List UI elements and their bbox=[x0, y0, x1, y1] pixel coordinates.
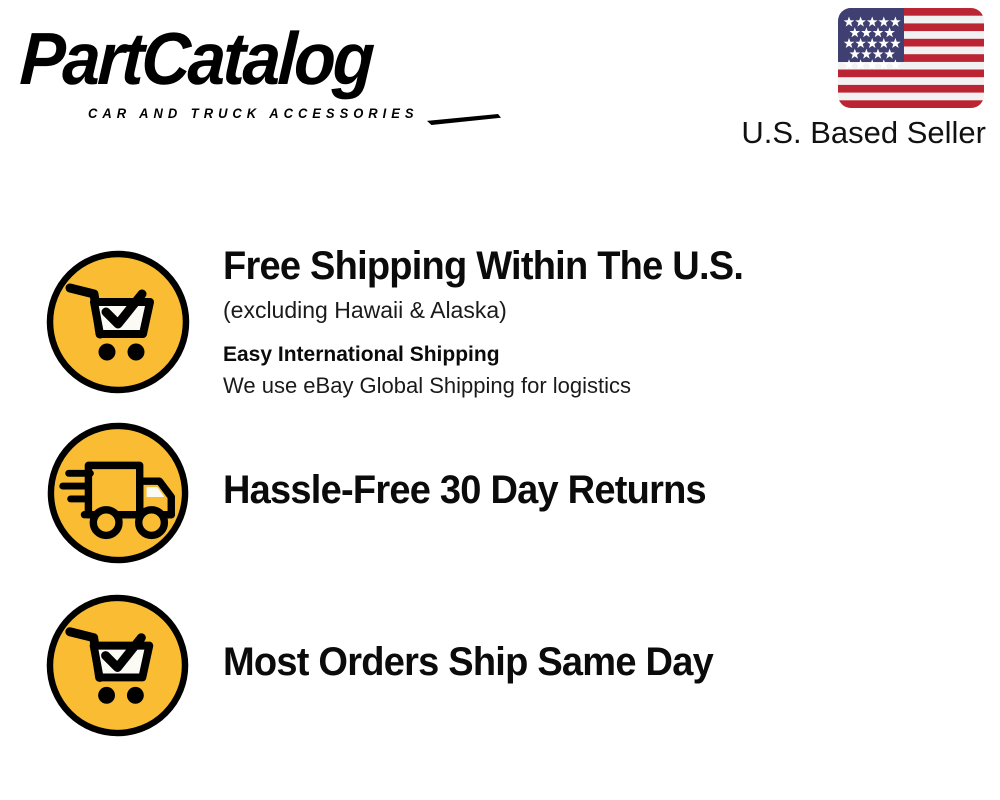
feature-title: Most Orders Ship Same Day bbox=[223, 638, 952, 686]
delivery-truck-icon bbox=[45, 420, 191, 566]
feature-text-block: Free Shipping Within The U.S. (excluding… bbox=[223, 242, 990, 401]
promo-banner: PartCatalog CAR AND TRUCK ACCESSORIES bbox=[0, 0, 1000, 800]
brand-logo: PartCatalog CAR AND TRUCK ACCESSORIES bbox=[22, 22, 492, 118]
us-based-seller-label: U.S. Based Seller bbox=[718, 114, 986, 152]
feature-subtext: (excluding Hawaii & Alaska) bbox=[223, 294, 990, 326]
feature-text-block: Most Orders Ship Same Day bbox=[223, 638, 990, 686]
feature-title: Hassle-Free 30 Day Returns bbox=[223, 466, 952, 514]
us-flag-icon bbox=[838, 8, 984, 108]
feature-subheading: Easy International Shipping bbox=[223, 340, 990, 370]
feature-title: Free Shipping Within The U.S. bbox=[223, 242, 952, 290]
feature-subnote: We use eBay Global Shipping for logistic… bbox=[223, 371, 990, 401]
feature-row: Most Orders Ship Same Day bbox=[0, 592, 1000, 740]
feature-text-block: Hassle-Free 30 Day Returns bbox=[223, 466, 990, 514]
banner-header: PartCatalog CAR AND TRUCK ACCESSORIES bbox=[0, 0, 1000, 175]
shopping-cart-check-icon bbox=[44, 248, 192, 396]
brand-wordmark: PartCatalog bbox=[18, 22, 373, 96]
feature-row: Free Shipping Within The U.S. (excluding… bbox=[0, 248, 1000, 400]
brand-tagline: CAR AND TRUCK ACCESSORIES bbox=[88, 106, 418, 122]
brand-swoosh-icon bbox=[427, 114, 501, 125]
shopping-cart-check-icon bbox=[44, 592, 191, 739]
feature-row: Hassle-Free 30 Day Returns bbox=[0, 420, 1000, 568]
